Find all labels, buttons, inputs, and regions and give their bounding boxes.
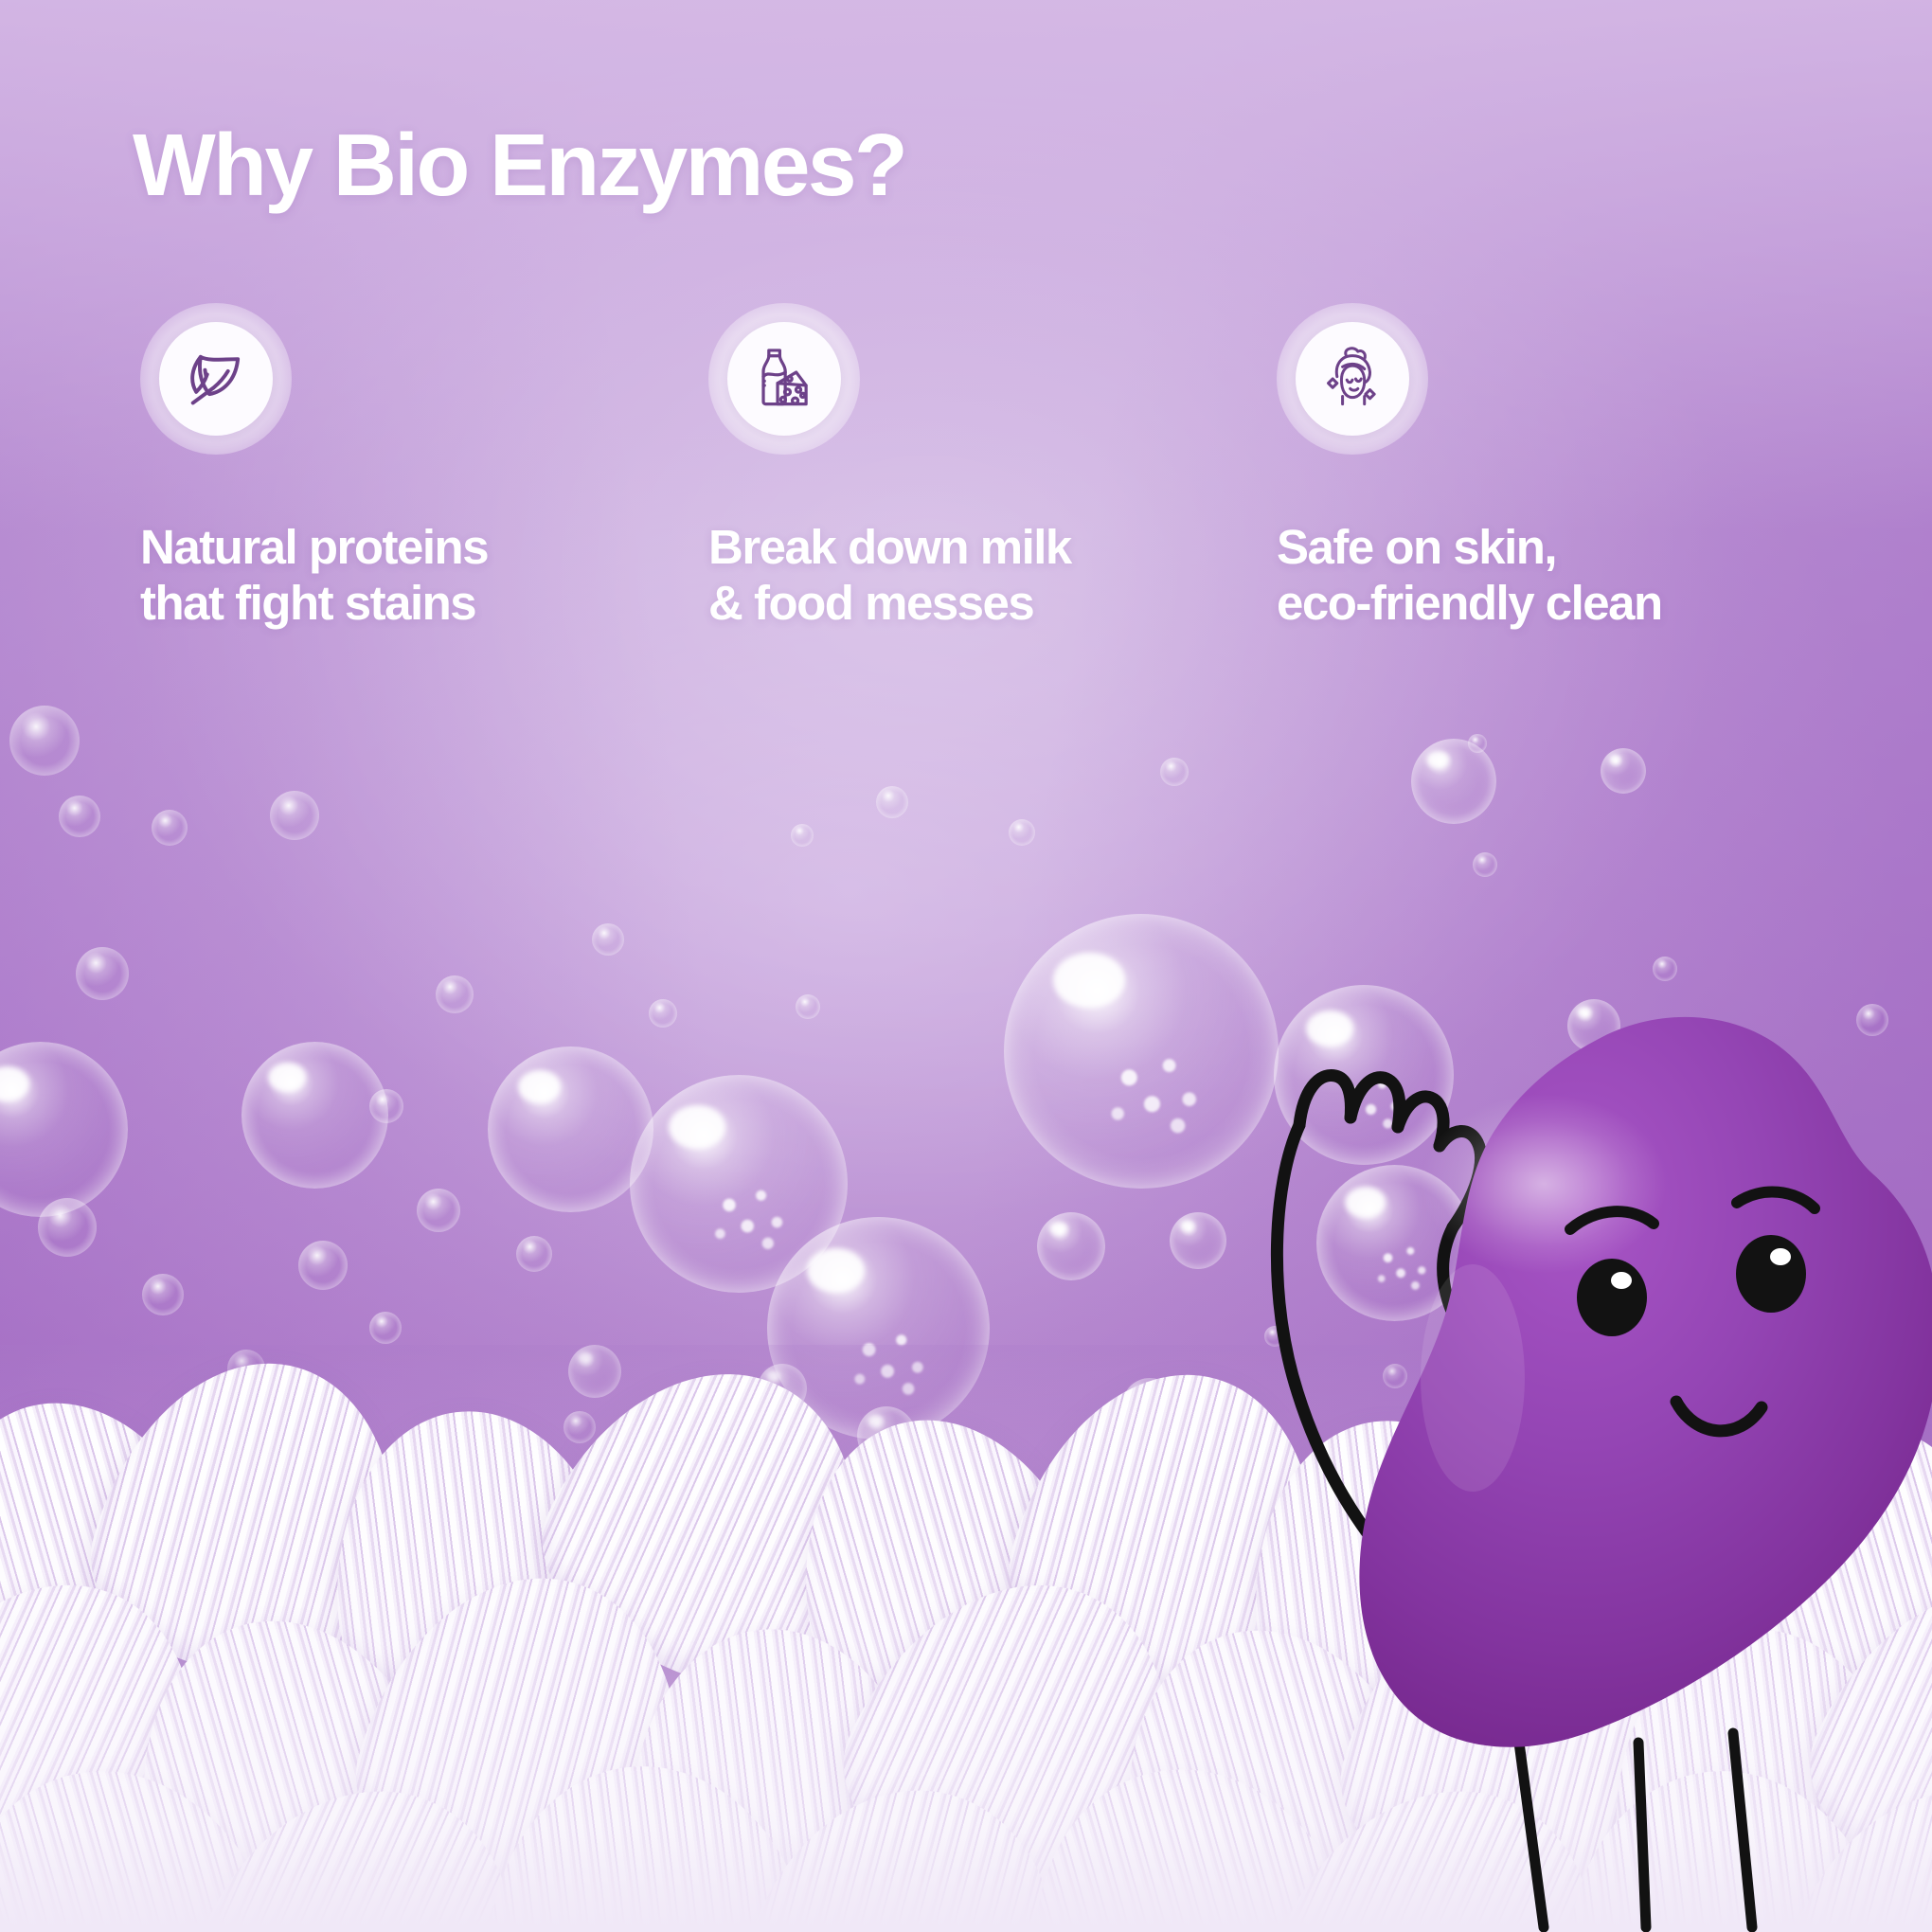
icon-disc: [727, 322, 841, 436]
bubble: [1004, 914, 1279, 1189]
bubble: [241, 1042, 388, 1189]
bubble: [1653, 957, 1677, 981]
bubble: [488, 1046, 653, 1212]
bubble: [9, 706, 80, 776]
icon-disc: [1296, 322, 1409, 436]
bubble: [270, 791, 319, 840]
bubble: [298, 1241, 348, 1290]
feature-item-natural-proteins: Natural proteins that fight stains: [140, 303, 708, 631]
leaf-icon: [181, 344, 251, 414]
bubble: [876, 786, 908, 818]
bubble: [1473, 852, 1497, 877]
bubble: [796, 994, 820, 1019]
milk-bottle-cheese-icon: [749, 344, 819, 414]
icon-halo: [1277, 303, 1428, 455]
bubble: [142, 1274, 184, 1315]
feature-caption: Safe on skin, eco-friendly clean: [1277, 519, 1845, 631]
bubble: [369, 1089, 403, 1123]
mascot-enzyme-character: [1260, 985, 1932, 1932]
feature-caption-line-1: Safe on skin,: [1277, 519, 1845, 575]
bubble: [436, 975, 474, 1013]
feature-caption-line-2: that fight stains: [140, 575, 708, 631]
feature-caption-line-1: Break down milk: [708, 519, 1277, 575]
icon-halo: [140, 303, 292, 455]
feature-item-safe-on-skin: Safe on skin, eco-friendly clean: [1277, 303, 1845, 631]
face-skincare-icon: [1317, 344, 1387, 414]
feature-item-break-down-milk: Break down milk & food messes: [708, 303, 1277, 631]
bubble: [38, 1198, 97, 1257]
feature-caption: Natural proteins that fight stains: [140, 519, 708, 631]
feature-caption-line-2: & food messes: [708, 575, 1277, 631]
bubble: [1160, 758, 1189, 786]
bubble: [152, 810, 188, 846]
bubble: [1170, 1212, 1226, 1269]
mascot-body-shine: [1421, 1094, 1667, 1274]
bubble: [791, 824, 814, 847]
page-title: Why Bio Enzymes?: [133, 121, 905, 209]
bubble: [592, 923, 624, 956]
bubble: [417, 1189, 460, 1232]
bubble: [649, 999, 677, 1028]
bubble: [516, 1236, 552, 1272]
feature-list: Natural proteins that fight stains: [140, 303, 1845, 631]
feature-caption: Break down milk & food messes: [708, 519, 1277, 631]
bubble: [369, 1312, 402, 1344]
bubble: [0, 1042, 128, 1217]
feature-caption-line-1: Natural proteins: [140, 519, 708, 575]
bubble: [76, 947, 129, 1000]
mascot-body-shine-small: [1421, 1264, 1525, 1492]
bubble: [1468, 734, 1487, 753]
bubble: [1009, 819, 1035, 846]
bubble: [1601, 748, 1646, 794]
icon-disc: [159, 322, 273, 436]
icon-halo: [708, 303, 860, 455]
bubble: [59, 796, 100, 837]
bubble: [1411, 739, 1496, 824]
feature-caption-line-2: eco-friendly clean: [1277, 575, 1845, 631]
bubble: [1037, 1212, 1105, 1280]
mascot-legs: [1517, 1728, 1752, 1927]
marketing-hero-image: Why Bio Enzymes? Natural proteins: [0, 0, 1932, 1932]
